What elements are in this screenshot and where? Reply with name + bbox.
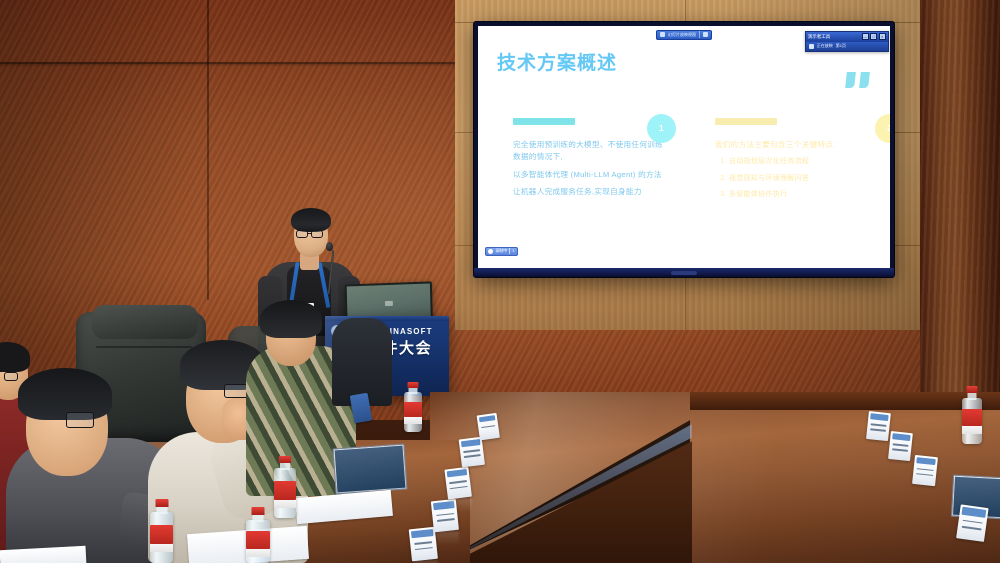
slide-record-widget[interactable]: 录制中 1 <box>485 247 517 256</box>
name-card-reflection <box>450 498 472 511</box>
mini-window-statusbar: 正在放映 第1页 <box>806 42 888 51</box>
name-card <box>912 455 938 486</box>
tv-bottom-bezel <box>474 268 894 277</box>
paragraph: 我们的方法主要包含三个关键特点: <box>715 139 865 151</box>
presentation-slide[interactable]: 技术方案概述 幻灯片放映视图 演示者工具 <box>478 26 890 268</box>
glasses-icon <box>4 372 18 381</box>
name-card <box>888 431 913 461</box>
attendee-laptop-1[interactable] <box>332 444 407 495</box>
glasses-icon <box>296 230 308 238</box>
mini-window-status-left: 正在放映 <box>817 44 833 48</box>
column-right-text: 我们的方法主要包含三个关键特点: 自动规划层次化任务流程 视觉感知与环境理解问答… <box>715 139 865 200</box>
water-bottle[interactable] <box>962 398 982 444</box>
record-label: 录制中 <box>495 249 507 253</box>
attendee-hair <box>18 368 112 420</box>
microphone-head <box>326 242 333 251</box>
water-bottle[interactable] <box>246 520 270 563</box>
name-card <box>477 413 500 441</box>
slide-column-right: 我们的方法主要包含三个关键特点: 自动规划层次化任务流程 视觉感知与环境理解问答… <box>715 118 880 205</box>
glasses-icon <box>311 230 323 238</box>
pen-icon[interactable] <box>703 32 708 37</box>
mini-window-status-right: 第1页 <box>836 44 846 48</box>
chair-seam <box>96 346 192 348</box>
status-icon <box>809 44 814 49</box>
name-card <box>444 467 471 500</box>
table-far-rim <box>690 392 1000 410</box>
slide-column-left: 完全使用预训练的大模型、不使用任何训练数据的情况下, 以多智能体代理 (Mult… <box>513 118 678 203</box>
slideshow-toolbar-label: 幻灯片放映视图 <box>668 33 696 37</box>
water-bottle[interactable] <box>404 392 422 432</box>
column-left-text: 完全使用预训练的大模型、不使用任何训练数据的情况下, 以多智能体代理 (Mult… <box>513 139 663 198</box>
tv-ir-sensor <box>671 271 697 275</box>
step-badge-2: 2 <box>875 114 890 143</box>
list-item: 多智能体协作执行 <box>729 189 865 200</box>
laptop-logo <box>385 301 393 306</box>
maximize-icon[interactable]: □ <box>870 33 877 40</box>
record-counter: 1 <box>512 249 514 253</box>
column-tag-yellow <box>715 118 777 125</box>
name-card <box>459 437 485 468</box>
water-bottle[interactable] <box>274 468 296 518</box>
toolbar-divider <box>699 31 700 38</box>
paragraph: 完全使用预训练的大模型、不使用任何训练数据的情况下, <box>513 139 663 164</box>
list-item: 视觉感知与环境理解问答 <box>729 173 865 184</box>
glasses-bridge <box>308 233 311 234</box>
glasses-icon <box>66 412 94 428</box>
minimize-icon[interactable]: — <box>862 33 869 40</box>
mini-window-title: 演示者工具 <box>808 35 831 40</box>
paragraph: 以多智能体代理 (Multi-LLM Agent) 的方法 <box>513 169 663 181</box>
slide-title: 技术方案概述 <box>497 48 617 75</box>
paragraph: 让机器人完成服务任务,实现自身能力 <box>513 186 663 198</box>
attendee-hair <box>260 300 322 338</box>
conference-room-scene: 技术方案概述 幻灯片放映视图 演示者工具 <box>0 0 1000 563</box>
name-card <box>866 411 891 441</box>
laptop-screen <box>335 446 406 493</box>
slideshow-toolbar[interactable]: 幻灯片放映视图 <box>656 30 712 40</box>
name-card-reflection <box>436 531 459 545</box>
name-card <box>956 504 988 542</box>
close-icon[interactable]: × <box>879 33 886 40</box>
presenter-mini-window[interactable]: 演示者工具 — □ × 正在放映 第1页 <box>805 31 889 52</box>
wall-mounted-tv[interactable]: 技术方案概述 幻灯片放映视图 演示者工具 <box>474 22 894 277</box>
widget-divider <box>509 248 510 254</box>
key-points-list: 自动规划层次化任务流程 视觉感知与环境理解问答 多智能体协作执行 <box>729 156 865 200</box>
list-item: 自动规划层次化任务流程 <box>729 156 865 167</box>
tv-screen[interactable]: 技术方案概述 幻灯片放映视图 演示者工具 <box>478 26 890 268</box>
slideshow-icon <box>660 32 665 37</box>
record-icon <box>488 249 493 254</box>
chair-headrest <box>92 305 198 339</box>
step-badge-1: 1 <box>647 114 676 143</box>
window-controls[interactable]: — □ × <box>862 33 886 40</box>
presenter-hair <box>291 208 331 232</box>
water-bottle[interactable] <box>150 512 173 563</box>
column-tag-cyan <box>513 118 575 125</box>
mini-window-titlebar[interactable]: 演示者工具 — □ × <box>806 32 888 42</box>
quote-mark-icon <box>846 72 869 88</box>
